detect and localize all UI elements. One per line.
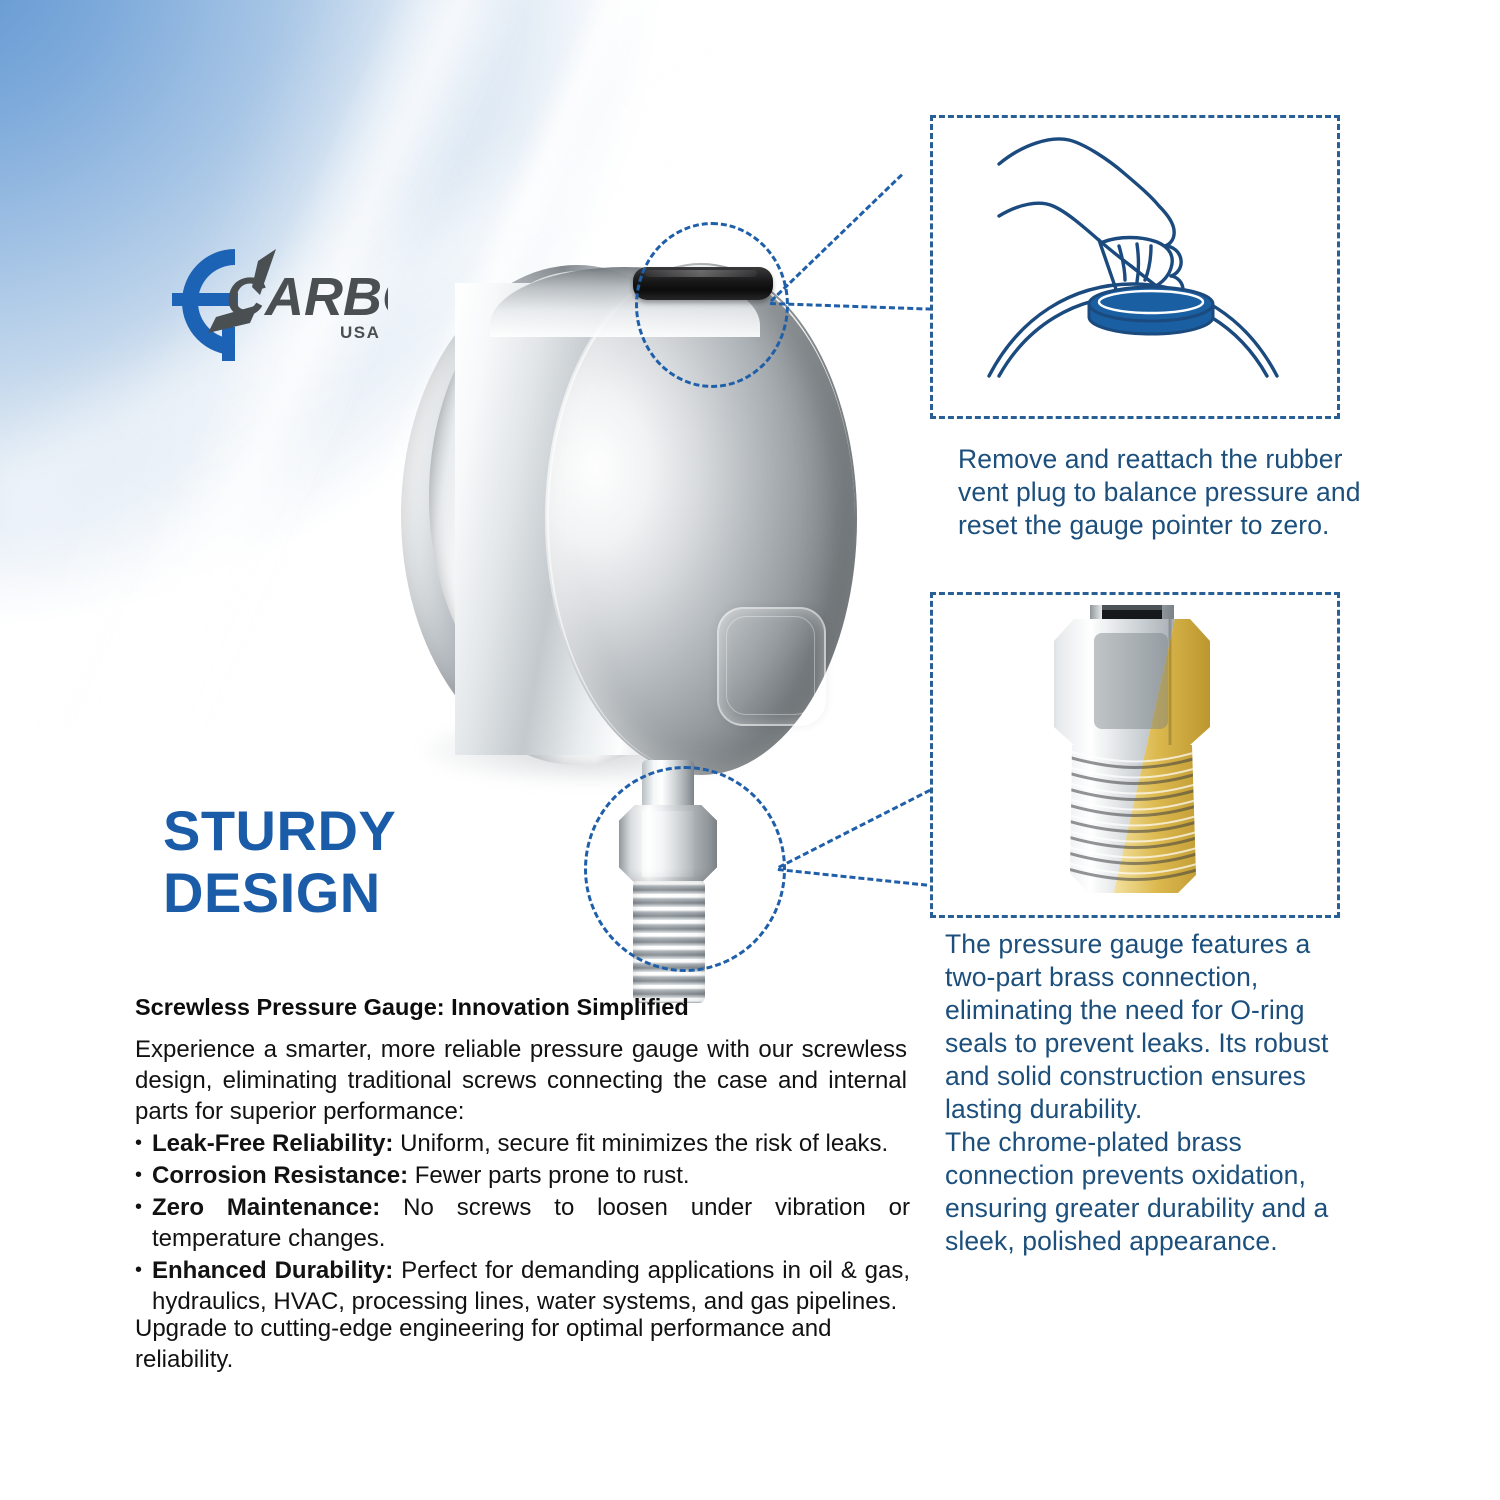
bullet-marker-icon: • [135,1128,152,1159]
callout-caption-brass-1: The pressure gauge features a two-part b… [945,928,1365,1126]
feature-bullet-list: • Leak-Free Reliability: Uniform, secure… [135,1128,910,1318]
bullet-text: Uniform, secure fit minimizes the risk o… [393,1130,888,1157]
bullet-title: Zero Maintenance: [152,1194,380,1221]
page-title-line2: DESIGN [163,862,396,924]
gauge-embossed-panel-inner [726,616,815,715]
list-item: • Corrosion Resistance: Fewer parts pron… [135,1160,910,1191]
outro-paragraph: Upgrade to cutting-edge engineering for … [135,1313,907,1375]
callout-circle-vent-plug [635,222,789,388]
chrome-brass-hex-fitting-photo [1028,605,1236,901]
vent-plug-disc [1089,287,1213,334]
logo-sub: USA [340,323,380,342]
bullet-text: Fewer parts prone to rust. [408,1162,689,1189]
bullet-title: Enhanced Durability: [152,1257,393,1284]
carbo-usa-logo: CARBO USA [172,243,388,361]
subheading: Screwless Pressure Gauge: Innovation Sim… [135,992,915,1022]
list-item: • Leak-Free Reliability: Uniform, secure… [135,1128,910,1159]
infographic-page: CARBO USA [0,0,1500,1500]
bullet-title: Corrosion Resistance: [152,1162,408,1189]
page-title: STURDY DESIGN [163,800,396,924]
bullet-marker-icon: • [135,1160,152,1191]
callout-caption-brass-2: The chrome-plated brass connection preve… [945,1126,1365,1258]
hand-removing-vent-plug-illustration [933,118,1331,410]
callout-box-vent-plug [930,115,1340,419]
list-item: • Zero Maintenance: No screws to loosen … [135,1192,910,1254]
bullet-marker-icon: • [135,1192,152,1223]
callout-caption-vent-plug: Remove and reattach the rubber vent plug… [958,443,1368,542]
bullet-marker-icon: • [135,1255,152,1286]
page-title-line1: STURDY [163,800,396,862]
callout-circle-stem [584,766,786,972]
bullet-title: Leak-Free Reliability: [152,1130,393,1157]
list-item: • Enhanced Durability: Perfect for deman… [135,1255,910,1317]
intro-paragraph: Experience a smarter, more reliable pres… [135,1034,907,1127]
logo-wordmark: CARBO [226,267,388,327]
